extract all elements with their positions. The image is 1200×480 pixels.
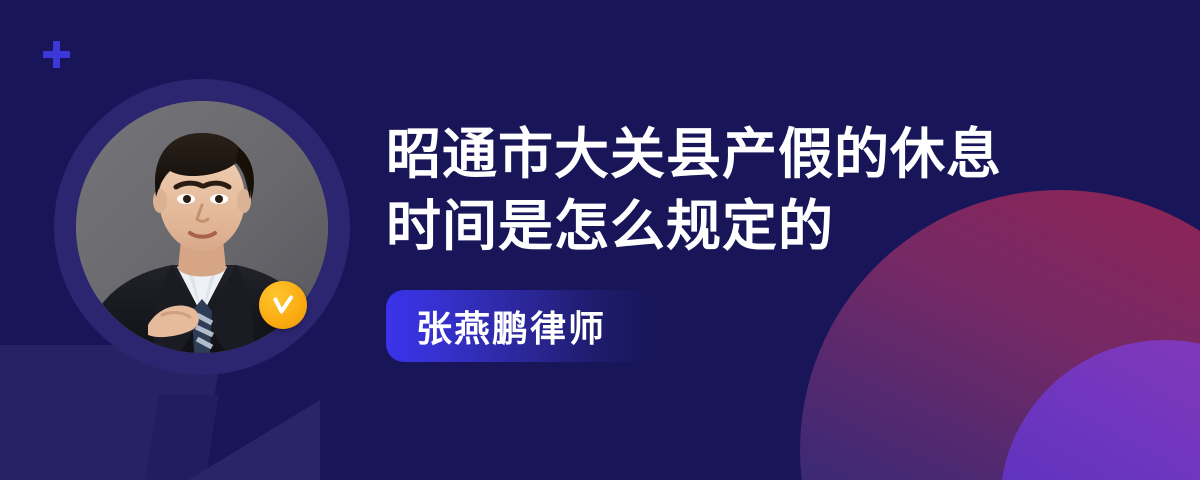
page-title-line-1: 昭通市大关县产假的休息 — [386, 118, 1126, 190]
decorative-triangle — [180, 400, 320, 480]
decorative-quad-left-2 — [141, 395, 218, 480]
verified-v-icon — [259, 281, 307, 329]
lawyer-name-label: 张燕鹏律师 — [416, 300, 606, 352]
content-block: 昭通市大关县产假的休息 时间是怎么规定的 张燕鹏律师 — [386, 118, 1126, 362]
page-title: 昭通市大关县产假的休息 时间是怎么规定的 — [386, 118, 1126, 262]
avatar[interactable] — [54, 79, 350, 375]
page-title-line-2: 时间是怎么规定的 — [386, 190, 1126, 262]
plus-icon — [43, 41, 70, 68]
lawyer-qa-banner: 昭通市大关县产假的休息 时间是怎么规定的 张燕鹏律师 — [0, 0, 1200, 480]
lawyer-name-badge[interactable]: 张燕鹏律师 — [386, 290, 652, 362]
